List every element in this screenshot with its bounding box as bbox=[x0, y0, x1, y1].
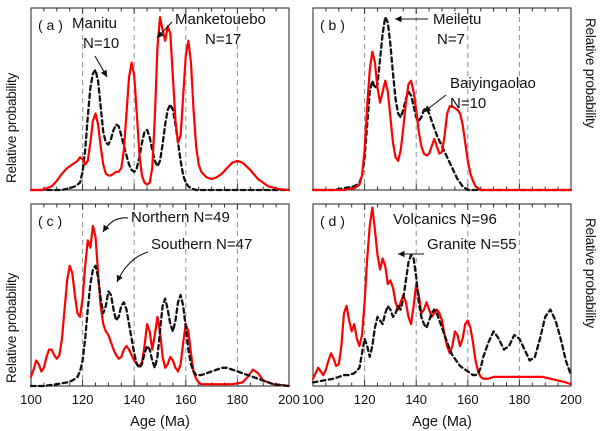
y-axis-label-top-right: Relative probability bbox=[583, 18, 598, 183]
xtick-label-180: 180 bbox=[227, 392, 249, 407]
xtick-label-100: 100 bbox=[302, 392, 324, 407]
annotation-manitu-label: Manitu bbox=[72, 15, 117, 32]
panel-letter-b: ( b ) bbox=[320, 17, 345, 33]
annotation-baiyingaolao-n: N=10 bbox=[450, 95, 486, 112]
y-axis-label-top-left: Relative probability bbox=[4, 18, 19, 183]
xtick-label-180: 180 bbox=[509, 392, 531, 407]
xtick-label-140: 140 bbox=[405, 392, 427, 407]
xtick-label-200: 200 bbox=[560, 392, 582, 407]
annotation-meiletu-n: N=7 bbox=[437, 31, 465, 48]
panel-letter-d: ( d ) bbox=[320, 213, 345, 229]
xtick-label-100: 100 bbox=[20, 392, 42, 407]
annotation-meiletu-label: Meiletu bbox=[433, 11, 481, 28]
plots-canvas: ( a )( b )( c )100120140160180200Age (Ma… bbox=[0, 0, 600, 431]
annotation-manitu-n: N=10 bbox=[83, 35, 119, 52]
y-axis-label-bottom-right: Relative probability bbox=[583, 218, 598, 383]
panel-letter-c: ( c ) bbox=[38, 213, 62, 229]
panel-frame bbox=[31, 204, 289, 386]
x-axis-title-d: Age (Ma) bbox=[412, 414, 472, 430]
y-axis-label-bottom-left: Relative probability bbox=[4, 218, 19, 383]
panel-letter-a: ( a ) bbox=[38, 17, 63, 33]
annotation-granite-label: Granite N=55 bbox=[427, 236, 517, 253]
annotation-baiyingaolao-label: Baiyingaolao bbox=[450, 75, 536, 92]
annotation-northern-label: Northern N=49 bbox=[131, 209, 230, 226]
annotation-manketouebo-n: N=17 bbox=[205, 31, 241, 48]
xtick-label-140: 140 bbox=[123, 392, 145, 407]
xtick-label-120: 120 bbox=[354, 392, 376, 407]
x-axis-title-c: Age (Ma) bbox=[130, 414, 190, 430]
annotation-volcanics-label: Volcanics N=96 bbox=[393, 211, 497, 228]
xtick-label-200: 200 bbox=[278, 392, 300, 407]
four-panel-probability-figure: Relative probability Relative probabilit… bbox=[0, 0, 600, 431]
annotation-southern-label: Southern N=47 bbox=[151, 236, 252, 253]
annotation-manketouebo-label: Manketouebo bbox=[175, 11, 266, 28]
xtick-label-120: 120 bbox=[72, 392, 94, 407]
xtick-label-160: 160 bbox=[457, 392, 479, 407]
xtick-label-160: 160 bbox=[175, 392, 197, 407]
